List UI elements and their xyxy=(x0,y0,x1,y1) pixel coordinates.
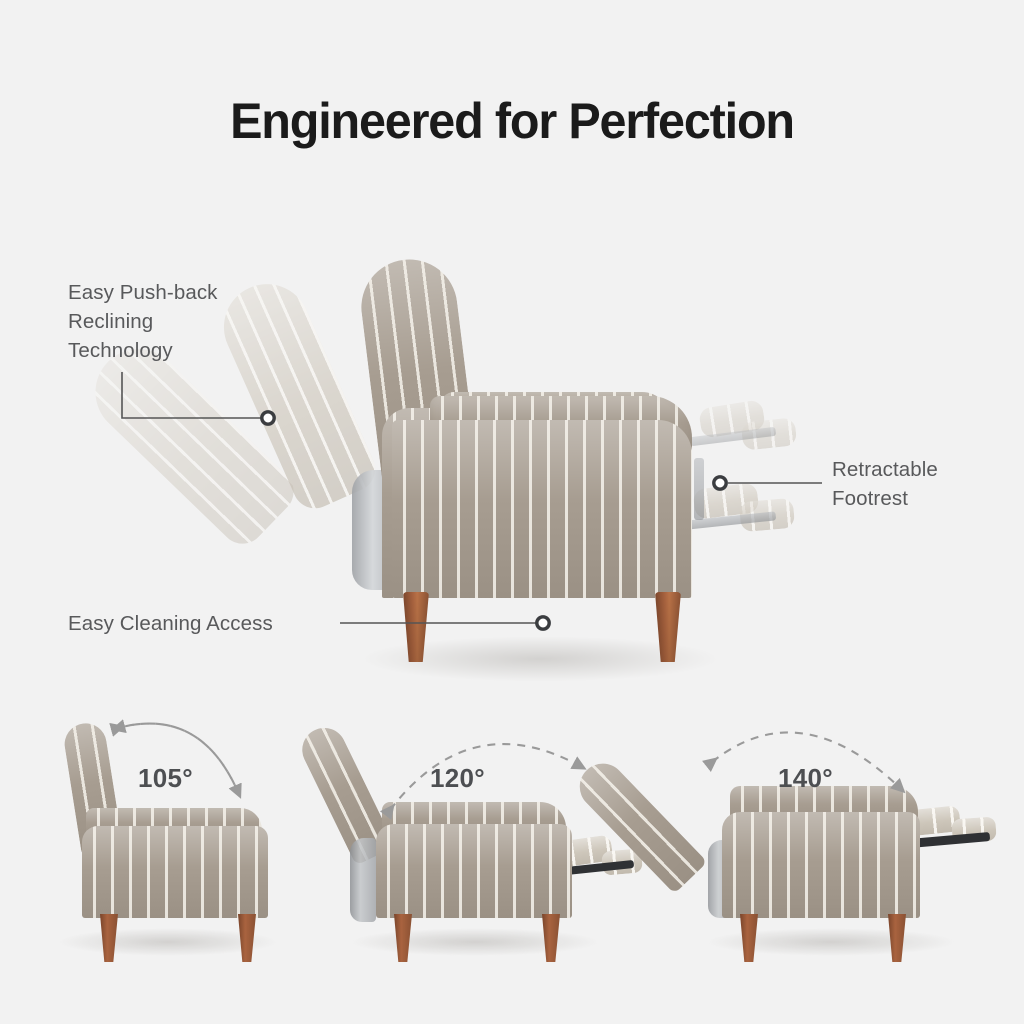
recline-positions-row xyxy=(0,690,1024,1024)
recline-position-140 xyxy=(660,690,990,1024)
infographic-canvas: Engineered for Perfection Easy Push-back… xyxy=(0,0,1024,1024)
footrest-ghost-lower-arm xyxy=(694,458,704,520)
mini1-leg-left xyxy=(100,914,118,962)
mini2-body xyxy=(376,824,572,918)
recline-position-120 xyxy=(320,690,650,1024)
mini3-body xyxy=(722,812,920,918)
mini2-mechanism xyxy=(350,838,376,922)
mini1-leg-right xyxy=(238,914,256,962)
angle-label-120: 120° xyxy=(430,763,485,794)
angle-label-140: 140° xyxy=(778,763,833,794)
mini3-leg-left xyxy=(740,914,758,962)
chair-body xyxy=(392,420,692,598)
callout-retractable-footrest: Retractable Footrest xyxy=(832,455,1022,513)
mini2-leg-right xyxy=(542,914,560,962)
mini2-leg-left xyxy=(394,914,412,962)
mini3-leg-right xyxy=(888,914,906,962)
angle-label-105: 105° xyxy=(138,763,193,794)
callout-reclining-technology: Easy Push-back Reclining Technology xyxy=(68,278,328,365)
mini1-body xyxy=(82,826,268,918)
mini2-shadow xyxy=(350,928,600,956)
callout-easy-cleaning-access: Easy Cleaning Access xyxy=(68,609,368,638)
